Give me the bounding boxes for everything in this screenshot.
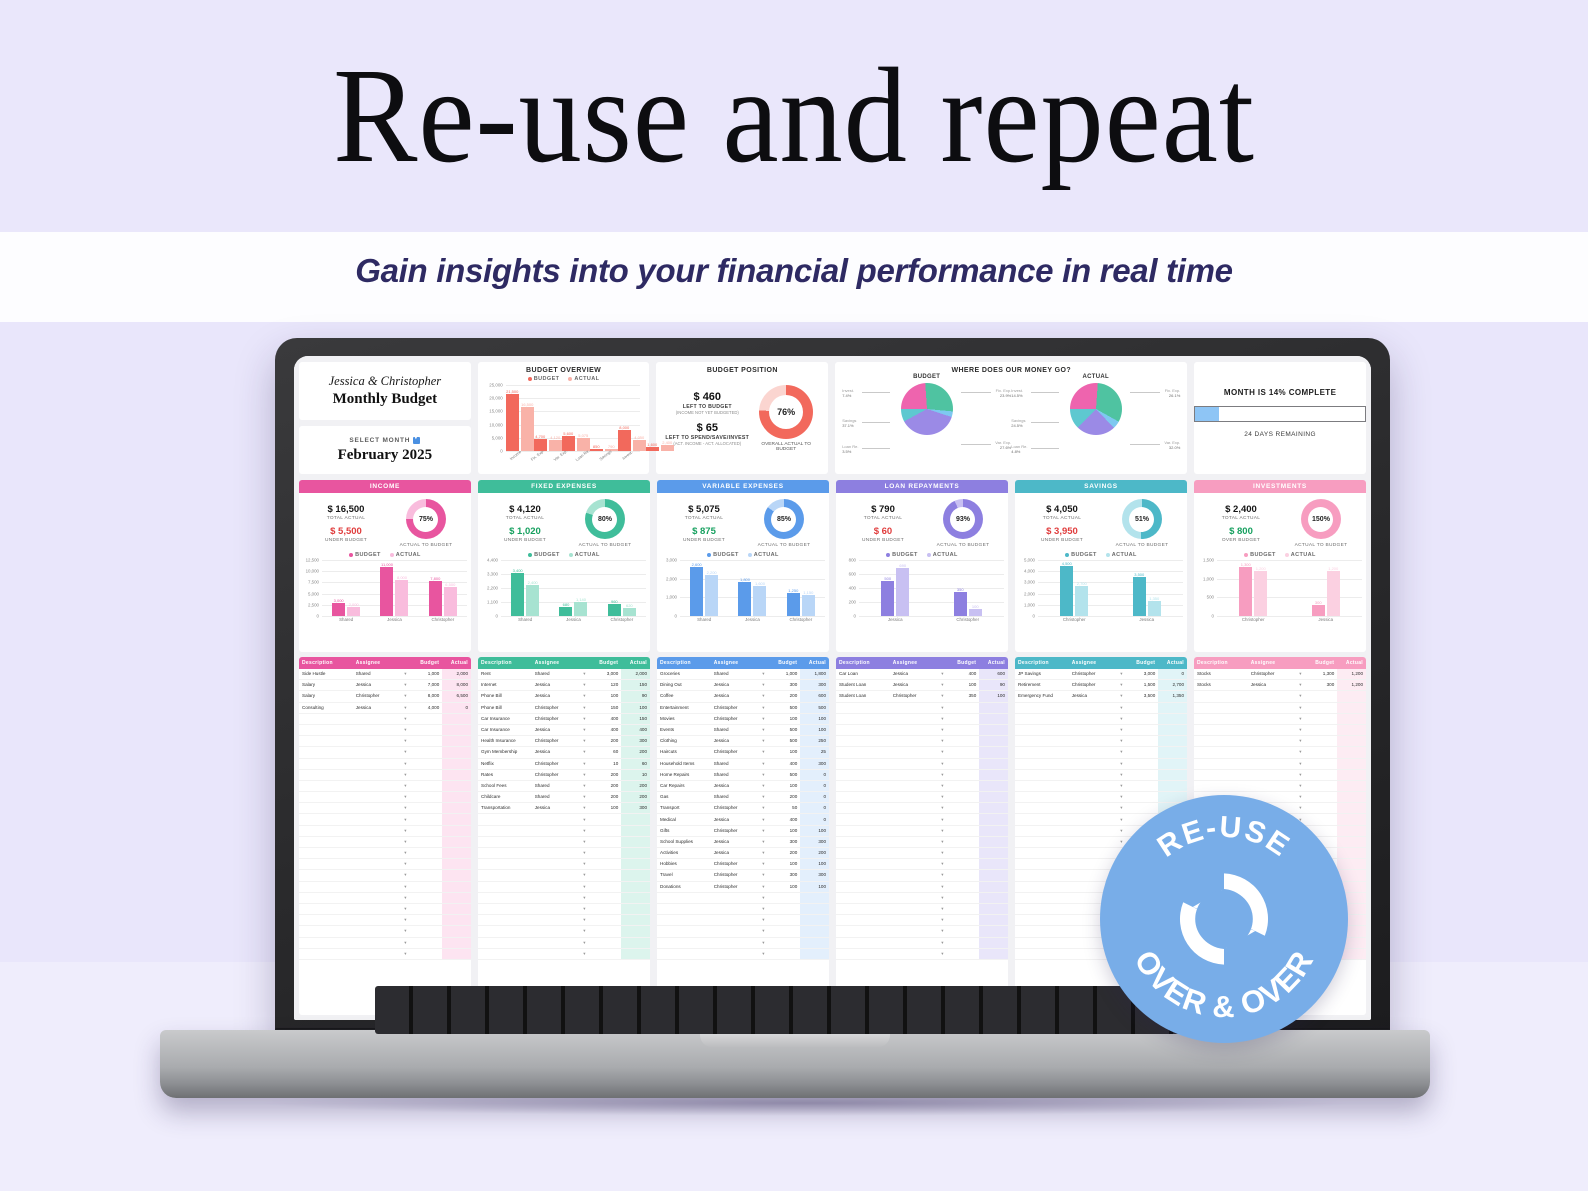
cell-assignee[interactable]	[532, 837, 577, 847]
cell-assignee[interactable]: Christopher	[532, 714, 577, 724]
cell-dropdown-icon[interactable]: ▾	[755, 893, 771, 903]
table-row[interactable]: Rates Christopher ▾ 200 10	[478, 770, 650, 781]
table-row[interactable]: Phone Bill Christopher ▾ 150 100	[478, 703, 650, 714]
cell-assignee[interactable]	[532, 893, 577, 903]
table-row-empty[interactable]: ▾	[1194, 703, 1366, 714]
cell-assignee[interactable]	[1069, 770, 1114, 780]
table-row-empty[interactable]: ▾	[836, 803, 1008, 814]
cell-dropdown-icon[interactable]: ▾	[576, 691, 592, 701]
cell-dropdown-icon[interactable]: ▾	[576, 770, 592, 780]
cell-assignee[interactable]	[353, 759, 398, 769]
table-row-empty[interactable]: ▾	[299, 792, 471, 803]
table-row-empty[interactable]: ▾	[299, 848, 471, 859]
cell-assignee[interactable]	[532, 904, 577, 914]
cell-assignee[interactable]	[890, 837, 935, 847]
cell-dropdown-icon[interactable]: ▾	[934, 926, 950, 936]
cell-dropdown-icon[interactable]: ▾	[755, 792, 771, 802]
cell-dropdown-icon[interactable]: ▾	[576, 747, 592, 757]
table-row-empty[interactable]: ▾	[836, 781, 1008, 792]
cell-assignee[interactable]: Jessica	[711, 691, 756, 701]
cell-dropdown-icon[interactable]: ▾	[755, 848, 771, 858]
table-row[interactable]: Salary Christopher ▾ 8,000 6,500	[299, 691, 471, 702]
cell-assignee[interactable]: Christopher	[711, 803, 756, 813]
table-row-empty[interactable]: ▾	[1194, 714, 1366, 725]
cell-dropdown-icon[interactable]: ▾	[934, 859, 950, 869]
cell-assignee[interactable]	[532, 870, 577, 880]
cell-dropdown-icon[interactable]: ▾	[1113, 669, 1129, 679]
cell-dropdown-icon[interactable]: ▾	[576, 893, 592, 903]
cell-dropdown-icon[interactable]: ▾	[576, 792, 592, 802]
cell-dropdown-icon[interactable]: ▾	[934, 703, 950, 713]
cell-assignee[interactable]	[353, 926, 398, 936]
table-row-empty[interactable]: ▾	[1015, 770, 1187, 781]
table-row-empty[interactable]: ▾	[836, 938, 1008, 949]
cell-dropdown-icon[interactable]: ▾	[1113, 781, 1129, 791]
cell-dropdown-icon[interactable]: ▾	[755, 915, 771, 925]
table-row[interactable]: School Supplies Jessica ▾ 300 300	[657, 837, 829, 848]
cell-dropdown-icon[interactable]: ▾	[1292, 725, 1308, 735]
cell-dropdown-icon[interactable]: ▾	[576, 803, 592, 813]
cell-dropdown-icon[interactable]: ▾	[576, 826, 592, 836]
table-row-empty[interactable]: ▾	[299, 747, 471, 758]
cell-assignee[interactable]	[1248, 725, 1293, 735]
cell-assignee[interactable]: Jessica	[711, 837, 756, 847]
cell-assignee[interactable]: Jessica	[532, 747, 577, 757]
cell-assignee[interactable]: Jessica	[353, 680, 398, 690]
cell-assignee[interactable]: Shared	[532, 669, 577, 679]
table-row-empty[interactable]: ▾	[478, 938, 650, 949]
cell-assignee[interactable]	[532, 859, 577, 869]
cell-dropdown-icon[interactable]: ▾	[755, 669, 771, 679]
cell-assignee[interactable]: Shared	[711, 759, 756, 769]
table-row-empty[interactable]: ▾	[836, 904, 1008, 915]
cell-dropdown-icon[interactable]: ▾	[1113, 736, 1129, 746]
cell-assignee[interactable]	[711, 949, 756, 959]
table-row-empty[interactable]: ▾	[1194, 736, 1366, 747]
table-row-empty[interactable]: ▾	[1015, 781, 1187, 792]
cell-dropdown-icon[interactable]: ▾	[397, 870, 413, 880]
table-row[interactable]: Coffee Jessica ▾ 200 600	[657, 691, 829, 702]
cell-dropdown-icon[interactable]: ▾	[397, 669, 413, 679]
table-row-empty[interactable]: ▾	[836, 926, 1008, 937]
table-row-empty[interactable]: ▾	[1015, 747, 1187, 758]
cell-assignee[interactable]	[1248, 759, 1293, 769]
cell-dropdown-icon[interactable]: ▾	[576, 725, 592, 735]
cell-dropdown-icon[interactable]: ▾	[934, 759, 950, 769]
cell-assignee[interactable]: Jessica	[532, 725, 577, 735]
table-row-empty[interactable]: ▾	[1194, 725, 1366, 736]
cell-assignee[interactable]	[890, 915, 935, 925]
table-row-empty[interactable]: ▾	[299, 725, 471, 736]
cell-dropdown-icon[interactable]: ▾	[576, 759, 592, 769]
table-row[interactable]: Gym Membership Jessica ▾ 60 200	[478, 747, 650, 758]
table-row-empty[interactable]: ▾	[478, 826, 650, 837]
cell-assignee[interactable]	[353, 837, 398, 847]
cell-dropdown-icon[interactable]: ▾	[576, 938, 592, 948]
cell-dropdown-icon[interactable]: ▾	[1292, 703, 1308, 713]
cell-dropdown-icon[interactable]: ▾	[934, 781, 950, 791]
table-row[interactable]: Hobbies Christopher ▾ 100 100	[657, 859, 829, 870]
cell-assignee[interactable]	[711, 904, 756, 914]
cell-dropdown-icon[interactable]: ▾	[576, 870, 592, 880]
cell-dropdown-icon[interactable]: ▾	[397, 759, 413, 769]
cell-dropdown-icon[interactable]: ▾	[1292, 759, 1308, 769]
cell-assignee[interactable]: Christopher	[711, 703, 756, 713]
cell-assignee[interactable]: Jessica	[890, 669, 935, 679]
cell-assignee[interactable]	[890, 848, 935, 858]
table-row-empty[interactable]: ▾	[836, 949, 1008, 960]
cell-assignee[interactable]: Christopher	[532, 770, 577, 780]
cell-assignee[interactable]	[353, 848, 398, 858]
cell-assignee[interactable]	[711, 926, 756, 936]
cell-assignee[interactable]: Shared	[711, 669, 756, 679]
table-row[interactable]: Haircuts Christopher ▾ 100 25	[657, 747, 829, 758]
cell-assignee[interactable]: Christopher	[532, 759, 577, 769]
cell-dropdown-icon[interactable]: ▾	[397, 837, 413, 847]
cell-dropdown-icon[interactable]: ▾	[1113, 680, 1129, 690]
cell-assignee[interactable]	[353, 904, 398, 914]
cell-assignee[interactable]	[1069, 725, 1114, 735]
table-row-empty[interactable]: ▾	[299, 714, 471, 725]
table-row-empty[interactable]: ▾	[657, 904, 829, 915]
cell-dropdown-icon[interactable]: ▾	[576, 781, 592, 791]
cell-dropdown-icon[interactable]: ▾	[576, 848, 592, 858]
cell-assignee[interactable]	[1069, 747, 1114, 757]
cell-dropdown-icon[interactable]: ▾	[755, 781, 771, 791]
cell-dropdown-icon[interactable]: ▾	[397, 725, 413, 735]
table-row[interactable]: School Fees Shared ▾ 200 200	[478, 781, 650, 792]
table-row[interactable]: Stocks Jessica ▾ 300 1,200	[1194, 680, 1366, 691]
cell-dropdown-icon[interactable]: ▾	[397, 691, 413, 701]
cell-assignee[interactable]	[890, 759, 935, 769]
table-row[interactable]: Transport Christopher ▾ 50 0	[657, 803, 829, 814]
table-row-empty[interactable]: ▾	[299, 926, 471, 937]
cell-assignee[interactable]: Jessica	[711, 736, 756, 746]
cell-dropdown-icon[interactable]: ▾	[397, 926, 413, 936]
cell-assignee[interactable]: Jessica	[890, 680, 935, 690]
cell-dropdown-icon[interactable]: ▾	[397, 781, 413, 791]
cell-assignee[interactable]	[353, 870, 398, 880]
cell-dropdown-icon[interactable]: ▾	[397, 736, 413, 746]
cell-assignee[interactable]: Shared	[711, 770, 756, 780]
cell-dropdown-icon[interactable]: ▾	[755, 859, 771, 869]
table-row-empty[interactable]: ▾	[836, 848, 1008, 859]
cell-dropdown-icon[interactable]: ▾	[755, 882, 771, 892]
table-row[interactable]: Gas Shared ▾ 200 0	[657, 792, 829, 803]
cell-dropdown-icon[interactable]: ▾	[934, 915, 950, 925]
cell-dropdown-icon[interactable]: ▾	[576, 926, 592, 936]
table-row[interactable]: Dining Out Jessica ▾ 300 300	[657, 680, 829, 691]
cell-assignee[interactable]	[353, 814, 398, 824]
cell-assignee[interactable]	[353, 792, 398, 802]
table-row[interactable]: Clothing Jessica ▾ 500 250	[657, 736, 829, 747]
cell-assignee[interactable]: Jessica	[711, 680, 756, 690]
cell-assignee[interactable]	[890, 893, 935, 903]
cell-assignee[interactable]: Jessica	[353, 703, 398, 713]
cell-assignee[interactable]: Shared	[353, 669, 398, 679]
cell-dropdown-icon[interactable]: ▾	[934, 803, 950, 813]
cell-assignee[interactable]	[890, 904, 935, 914]
cell-dropdown-icon[interactable]: ▾	[755, 938, 771, 948]
table-row-empty[interactable]: ▾	[836, 747, 1008, 758]
table-row-empty[interactable]: ▾	[478, 904, 650, 915]
cell-dropdown-icon[interactable]: ▾	[755, 747, 771, 757]
table-row[interactable]: Side Hustle Shared ▾ 1,000 2,000	[299, 669, 471, 680]
cell-assignee[interactable]	[711, 893, 756, 903]
table-row-empty[interactable]: ▾	[836, 826, 1008, 837]
cell-assignee[interactable]	[353, 893, 398, 903]
cell-assignee[interactable]	[890, 814, 935, 824]
table-row[interactable]: Phone Bill Jessica ▾ 100 90	[478, 691, 650, 702]
table-row[interactable]: JP Savings Christopher ▾ 3,000 0	[1015, 669, 1187, 680]
cell-assignee[interactable]	[1248, 703, 1293, 713]
cell-assignee[interactable]	[890, 938, 935, 948]
table-row[interactable]: Consulting Jessica ▾ 4,000 0	[299, 703, 471, 714]
cell-assignee[interactable]	[353, 882, 398, 892]
cell-dropdown-icon[interactable]: ▾	[576, 714, 592, 724]
cell-assignee[interactable]: Christopher	[711, 859, 756, 869]
table-row-empty[interactable]: ▾	[1194, 691, 1366, 702]
cell-dropdown-icon[interactable]: ▾	[576, 904, 592, 914]
table-row-empty[interactable]: ▾	[299, 949, 471, 960]
cell-assignee[interactable]	[353, 859, 398, 869]
cell-assignee[interactable]	[353, 770, 398, 780]
table-row[interactable]: Movies Christopher ▾ 100 100	[657, 714, 829, 725]
cell-dropdown-icon[interactable]: ▾	[397, 882, 413, 892]
cell-dropdown-icon[interactable]: ▾	[1292, 770, 1308, 780]
table-row[interactable]: Stocks Christopher ▾ 1,300 1,200	[1194, 669, 1366, 680]
cell-dropdown-icon[interactable]: ▾	[934, 691, 950, 701]
cell-dropdown-icon[interactable]: ▾	[397, 747, 413, 757]
cell-assignee[interactable]: Shared	[532, 781, 577, 791]
cell-dropdown-icon[interactable]: ▾	[1292, 781, 1308, 791]
cell-dropdown-icon[interactable]: ▾	[576, 736, 592, 746]
table-row-empty[interactable]: ▾	[836, 893, 1008, 904]
cell-assignee[interactable]: Jessica	[711, 781, 756, 791]
cell-dropdown-icon[interactable]: ▾	[1292, 747, 1308, 757]
cell-dropdown-icon[interactable]: ▾	[934, 747, 950, 757]
cell-dropdown-icon[interactable]: ▾	[755, 949, 771, 959]
table-row[interactable]: Car Repairs Jessica ▾ 100 0	[657, 781, 829, 792]
table-row[interactable]: Emergency Fund Jessica ▾ 3,500 1,350	[1015, 691, 1187, 702]
table-row-empty[interactable]: ▾	[478, 859, 650, 870]
cell-assignee[interactable]	[890, 736, 935, 746]
cell-assignee[interactable]	[353, 725, 398, 735]
cell-dropdown-icon[interactable]: ▾	[1292, 714, 1308, 724]
table-row[interactable]: Car Loan Jessica ▾ 400 600	[836, 669, 1008, 680]
table-row-empty[interactable]: ▾	[1015, 759, 1187, 770]
cell-dropdown-icon[interactable]: ▾	[1113, 770, 1129, 780]
cell-assignee[interactable]	[1069, 781, 1114, 791]
cell-assignee[interactable]	[1248, 691, 1293, 701]
cell-dropdown-icon[interactable]: ▾	[576, 882, 592, 892]
cell-dropdown-icon[interactable]: ▾	[1292, 736, 1308, 746]
cell-dropdown-icon[interactable]: ▾	[755, 770, 771, 780]
cell-dropdown-icon[interactable]: ▾	[1113, 703, 1129, 713]
table-row-empty[interactable]: ▾	[836, 792, 1008, 803]
table-row[interactable]: Student Loan Jessica ▾ 100 90	[836, 680, 1008, 691]
cell-assignee[interactable]	[890, 826, 935, 836]
table-row-empty[interactable]: ▾	[836, 736, 1008, 747]
table-row-empty[interactable]: ▾	[299, 870, 471, 881]
cell-dropdown-icon[interactable]: ▾	[934, 669, 950, 679]
table-row-empty[interactable]: ▾	[299, 904, 471, 915]
table-row[interactable]: Netflix Christopher ▾ 10 60	[478, 759, 650, 770]
selected-month-value[interactable]: February 2025	[338, 447, 433, 464]
cell-dropdown-icon[interactable]: ▾	[397, 803, 413, 813]
table-row-empty[interactable]: ▾	[299, 781, 471, 792]
table-row-empty[interactable]: ▾	[657, 938, 829, 949]
cell-dropdown-icon[interactable]: ▾	[397, 703, 413, 713]
cell-assignee[interactable]: Jessica	[1069, 691, 1114, 701]
table-row-empty[interactable]: ▾	[478, 949, 650, 960]
table-row-empty[interactable]: ▾	[299, 736, 471, 747]
table-row[interactable]: Activities Jessica ▾ 200 200	[657, 848, 829, 859]
table-row-empty[interactable]: ▾	[836, 814, 1008, 825]
table-row-empty[interactable]: ▾	[836, 837, 1008, 848]
table-row-empty[interactable]: ▾	[1015, 725, 1187, 736]
cell-assignee[interactable]	[1248, 714, 1293, 724]
cell-dropdown-icon[interactable]: ▾	[755, 680, 771, 690]
cell-assignee[interactable]	[890, 747, 935, 757]
cell-assignee[interactable]	[890, 803, 935, 813]
cell-assignee[interactable]: Jessica	[532, 803, 577, 813]
cell-assignee[interactable]	[1248, 781, 1293, 791]
cell-assignee[interactable]	[353, 938, 398, 948]
cell-assignee[interactable]	[890, 882, 935, 892]
cell-dropdown-icon[interactable]: ▾	[934, 837, 950, 847]
cell-dropdown-icon[interactable]: ▾	[934, 725, 950, 735]
cell-assignee[interactable]: Jessica	[711, 814, 756, 824]
cell-assignee[interactable]	[532, 926, 577, 936]
cell-assignee[interactable]: Shared	[711, 725, 756, 735]
table-row[interactable]: Travel Christopher ▾ 300 300	[657, 870, 829, 881]
table-row-empty[interactable]: ▾	[836, 759, 1008, 770]
cell-dropdown-icon[interactable]: ▾	[934, 814, 950, 824]
cell-dropdown-icon[interactable]: ▾	[1292, 691, 1308, 701]
table-row[interactable]: Donations Christopher ▾ 100 100	[657, 882, 829, 893]
cell-assignee[interactable]	[532, 882, 577, 892]
table-row-empty[interactable]: ▾	[299, 938, 471, 949]
cell-dropdown-icon[interactable]: ▾	[1113, 725, 1129, 735]
cell-assignee[interactable]	[353, 915, 398, 925]
cell-dropdown-icon[interactable]: ▾	[934, 938, 950, 948]
cell-assignee[interactable]: Christopher	[711, 826, 756, 836]
cell-dropdown-icon[interactable]: ▾	[755, 714, 771, 724]
table-row[interactable]: Entertainment Christopher ▾ 500 500	[657, 703, 829, 714]
table-row-empty[interactable]: ▾	[1194, 747, 1366, 758]
cell-assignee[interactable]: Shared	[532, 792, 577, 802]
cell-dropdown-icon[interactable]: ▾	[397, 814, 413, 824]
cell-dropdown-icon[interactable]: ▾	[576, 669, 592, 679]
table-row-empty[interactable]: ▾	[299, 915, 471, 926]
table-row-empty[interactable]: ▾	[478, 848, 650, 859]
cell-dropdown-icon[interactable]: ▾	[1292, 680, 1308, 690]
table-row-empty[interactable]: ▾	[657, 926, 829, 937]
table-row-empty[interactable]: ▾	[478, 814, 650, 825]
table-row[interactable]: Transportation Jessica ▾ 100 300	[478, 803, 650, 814]
table-row-empty[interactable]: ▾	[299, 826, 471, 837]
table-row-empty[interactable]: ▾	[657, 949, 829, 960]
cell-assignee[interactable]: Christopher	[711, 714, 756, 724]
cell-assignee[interactable]	[711, 915, 756, 925]
table-row-empty[interactable]: ▾	[299, 759, 471, 770]
cell-dropdown-icon[interactable]: ▾	[576, 703, 592, 713]
cell-dropdown-icon[interactable]: ▾	[397, 904, 413, 914]
cell-assignee[interactable]: Jessica	[532, 680, 577, 690]
cell-assignee[interactable]	[1248, 770, 1293, 780]
cell-assignee[interactable]	[1248, 736, 1293, 746]
cell-dropdown-icon[interactable]: ▾	[576, 680, 592, 690]
table-row-empty[interactable]: ▾	[657, 915, 829, 926]
cell-assignee[interactable]	[1069, 736, 1114, 746]
table-row-empty[interactable]: ▾	[1015, 714, 1187, 725]
cell-assignee[interactable]	[890, 781, 935, 791]
table-row-empty[interactable]: ▾	[299, 770, 471, 781]
cell-dropdown-icon[interactable]: ▾	[934, 792, 950, 802]
cell-dropdown-icon[interactable]: ▾	[755, 759, 771, 769]
cell-assignee[interactable]	[1069, 703, 1114, 713]
table-row[interactable]: Home Repairs Shared ▾ 500 0	[657, 770, 829, 781]
table-row-empty[interactable]: ▾	[836, 859, 1008, 870]
cell-assignee[interactable]	[890, 870, 935, 880]
table-row-empty[interactable]: ▾	[1194, 770, 1366, 781]
cell-dropdown-icon[interactable]: ▾	[576, 814, 592, 824]
cell-dropdown-icon[interactable]: ▾	[755, 926, 771, 936]
cell-dropdown-icon[interactable]: ▾	[755, 691, 771, 701]
table-row-empty[interactable]: ▾	[836, 714, 1008, 725]
table-row-empty[interactable]: ▾	[478, 882, 650, 893]
cell-assignee[interactable]: Christopher	[1248, 669, 1293, 679]
cell-assignee[interactable]: Jessica	[711, 848, 756, 858]
cell-dropdown-icon[interactable]: ▾	[755, 736, 771, 746]
cell-dropdown-icon[interactable]: ▾	[755, 904, 771, 914]
cell-dropdown-icon[interactable]: ▾	[397, 770, 413, 780]
table-row-empty[interactable]: ▾	[1194, 759, 1366, 770]
cell-dropdown-icon[interactable]: ▾	[1292, 669, 1308, 679]
table-row[interactable]: Groceries Shared ▾ 1,000 1,800	[657, 669, 829, 680]
table-row-empty[interactable]: ▾	[836, 725, 1008, 736]
table-row-empty[interactable]: ▾	[1015, 703, 1187, 714]
table-row[interactable]: Events Shared ▾ 500 100	[657, 725, 829, 736]
table-row[interactable]: Childcare Shared ▾ 200 200	[478, 792, 650, 803]
table-row[interactable]: Health Insurance Christopher ▾ 200 300	[478, 736, 650, 747]
cell-dropdown-icon[interactable]: ▾	[934, 736, 950, 746]
cell-dropdown-icon[interactable]: ▾	[755, 725, 771, 735]
table-row[interactable]: Car Insurance Jessica ▾ 400 400	[478, 725, 650, 736]
cell-assignee[interactable]	[532, 826, 577, 836]
cell-assignee[interactable]	[532, 949, 577, 959]
cell-dropdown-icon[interactable]: ▾	[755, 703, 771, 713]
cell-assignee[interactable]	[890, 703, 935, 713]
cell-dropdown-icon[interactable]: ▾	[755, 803, 771, 813]
cell-dropdown-icon[interactable]: ▾	[576, 859, 592, 869]
table-row-empty[interactable]: ▾	[299, 814, 471, 825]
cell-assignee[interactable]: Christopher	[711, 747, 756, 757]
cell-dropdown-icon[interactable]: ▾	[397, 859, 413, 869]
cell-assignee[interactable]	[353, 781, 398, 791]
cell-assignee[interactable]: Christopher	[890, 691, 935, 701]
cell-dropdown-icon[interactable]: ▾	[397, 714, 413, 724]
cell-dropdown-icon[interactable]: ▾	[934, 870, 950, 880]
cell-dropdown-icon[interactable]: ▾	[397, 680, 413, 690]
cell-dropdown-icon[interactable]: ▾	[397, 792, 413, 802]
table-row-empty[interactable]: ▾	[657, 893, 829, 904]
table-row-empty[interactable]: ▾	[836, 770, 1008, 781]
cell-dropdown-icon[interactable]: ▾	[397, 826, 413, 836]
cell-assignee[interactable]	[890, 770, 935, 780]
cell-dropdown-icon[interactable]: ▾	[934, 714, 950, 724]
